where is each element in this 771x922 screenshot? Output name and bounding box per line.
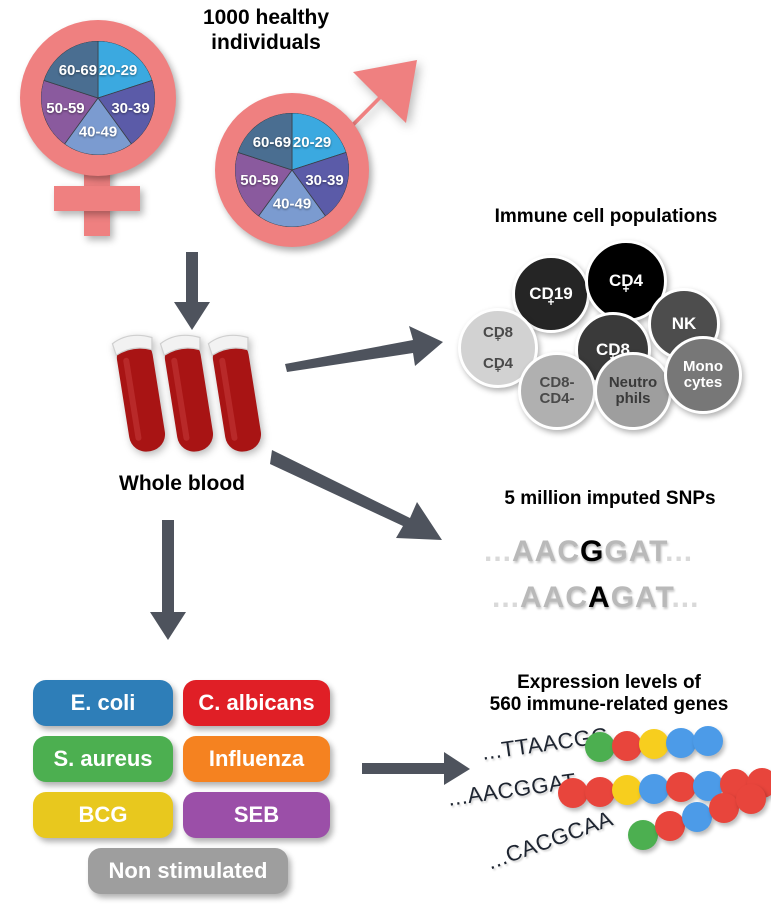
- stimulation-box-seb[interactable]: SEB: [183, 792, 330, 838]
- stimulation-box-influenza[interactable]: Influenza: [183, 736, 330, 782]
- immune-cell-label: Monocytes: [683, 359, 723, 390]
- snp-sequence-2: ...AACAGAT...: [492, 581, 699, 615]
- gene-bead: [639, 774, 669, 804]
- immune-cell-monocytes: Monocytes: [664, 336, 742, 414]
- gene-bead: [612, 775, 642, 805]
- gene-bead: [666, 772, 696, 802]
- gene-bead: [709, 793, 739, 823]
- immune-cell-label: CD8+CD4+: [483, 325, 513, 372]
- gene-bead: [612, 731, 642, 761]
- gene-bead: [639, 729, 669, 759]
- stimulation-box-label: C. albicans: [198, 690, 314, 716]
- gene-bead: [666, 728, 696, 758]
- gene-bead: [736, 784, 766, 814]
- stimulation-boxes-group: E. coliC. albicansS. aureusInfluenzaBCGS…: [0, 0, 360, 922]
- immune-cell-label: CD8-CD4-: [539, 375, 574, 406]
- stimulation-box-label: E. coli: [71, 690, 136, 716]
- expression-title: Expression levels of 560 immune-related …: [448, 672, 770, 717]
- gene-bead: [655, 811, 685, 841]
- immune-cell-label: CD19+: [529, 285, 572, 303]
- expression-title-line2: 560 immune-related genes: [448, 694, 770, 716]
- gene-bead: [585, 777, 615, 807]
- snps-title: 5 million imputed SNPs: [450, 488, 770, 510]
- snp-sequences-group: ...AACGGAT......AACAGAT...: [484, 535, 764, 625]
- immune-cell-cd8-cd4-: CD8-CD4-: [518, 352, 596, 430]
- stimulation-box-e-coli[interactable]: E. coli: [33, 680, 173, 726]
- gene-bead: [693, 726, 723, 756]
- expression-chains-group: ...TTAACGG...AACGGAT...CACGCAA: [440, 720, 771, 910]
- gene-bead: [558, 778, 588, 808]
- stimulation-box-label: Non stimulated: [109, 858, 268, 884]
- stimulation-box-non-stimulated[interactable]: Non stimulated: [88, 848, 288, 894]
- immune-cell-label: CD4+: [609, 272, 643, 290]
- snp-sequence-1: ...AACGGAT...: [484, 535, 693, 569]
- gene-bead: [585, 732, 615, 762]
- stimulation-box-s-aureus[interactable]: S. aureus: [33, 736, 173, 782]
- stimulation-box-label: SEB: [234, 802, 279, 828]
- gene-sequence-3: ...CACGCAA: [484, 806, 617, 876]
- gene-bead: [682, 802, 712, 832]
- gene-bead: [628, 820, 658, 850]
- immune-cell-label: NK: [672, 315, 697, 333]
- stimulation-box-label: S. aureus: [53, 746, 152, 772]
- stimulation-box-c-albicans[interactable]: C. albicans: [183, 680, 330, 726]
- stimulation-box-label: Influenza: [209, 746, 304, 772]
- expression-title-line1: Expression levels of: [448, 672, 770, 694]
- stimulation-box-bcg[interactable]: BCG: [33, 792, 173, 838]
- immune-cell-neutrophils: Neutrophils: [594, 352, 672, 430]
- immune-cell-label: Neutrophils: [609, 375, 657, 406]
- stimulation-box-label: BCG: [79, 802, 128, 828]
- figure-canvas: 1000 healthy individuals 20-2930-3940-49…: [0, 0, 771, 922]
